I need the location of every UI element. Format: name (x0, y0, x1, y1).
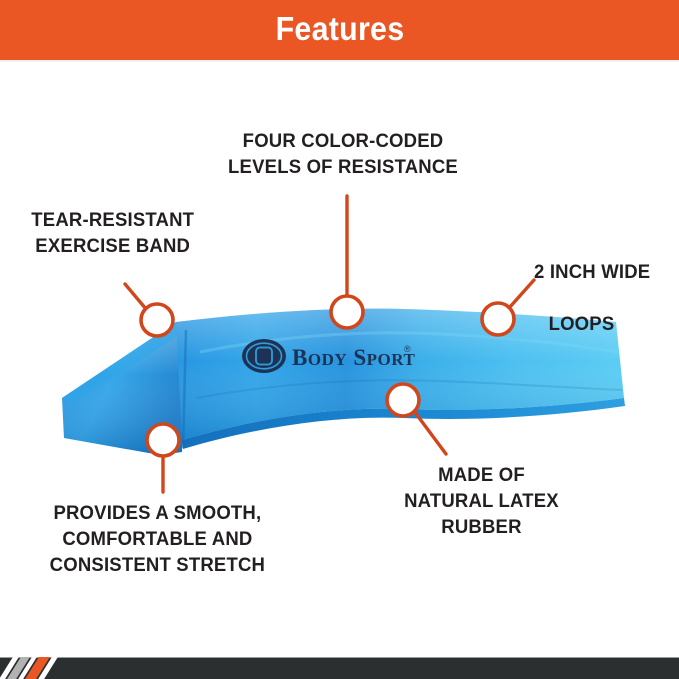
callout-tear-resistant-exercise-band: TEAR-RESISTANT EXERCISE BAND (31, 207, 194, 259)
infographic-page: Features (0, 0, 679, 679)
marker-natural-latex[interactable] (387, 384, 419, 416)
leader-line-tear-resistant (125, 284, 146, 309)
svg-text:B: B (259, 351, 269, 367)
marker-four-color-coded[interactable] (331, 296, 363, 328)
footer-divider (0, 657, 679, 658)
callout-loops-line2: LOOPS (513, 311, 651, 337)
marker-provides-stretch[interactable] (147, 424, 179, 456)
callout-four-color-coded-levels: FOUR COLOR-CODED LEVELS OF RESISTANCE (228, 128, 458, 180)
brand-trademark-icon: ® (404, 344, 411, 354)
callout-loops-line1: 2 INCH WIDE (534, 261, 650, 283)
callout-made-of-natural-latex-rubber: MADE OF NATURAL LATEX RUBBER (404, 462, 559, 540)
footer-bar (0, 657, 679, 679)
marker-two-inch-wide-loops[interactable] (482, 303, 514, 335)
marker-tear-resistant[interactable] (141, 304, 173, 336)
callout-two-inch-wide-loops: 2 INCH WIDE LOOPS (513, 233, 651, 389)
callout-provides-smooth-stretch: PROVIDES A SMOOTH, COMFORTABLE AND CONSI… (50, 500, 265, 578)
